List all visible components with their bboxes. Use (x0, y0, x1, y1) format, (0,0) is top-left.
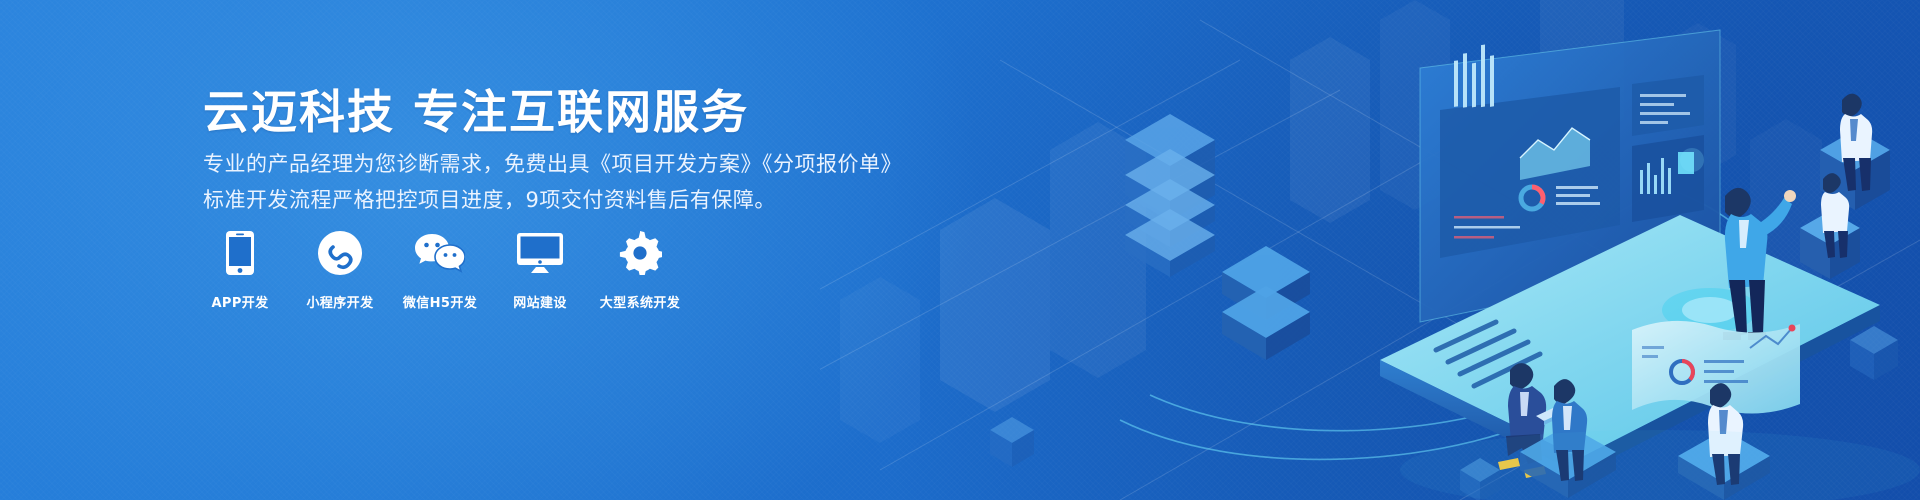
hero-banner: 云迈科技 专注互联网服务 专业的产品经理为您诊断需求，免费出具《项目开发方案》《… (0, 0, 1920, 500)
service-item-website[interactable]: 网站建设 (503, 230, 577, 311)
floating-cubes (1125, 114, 1215, 277)
service-list: APP开发 小程序开发 (203, 230, 677, 311)
service-label: 小程序开发 (306, 292, 373, 311)
illustration-artwork (820, 0, 1920, 500)
subtitle-line-1: 专业的产品经理为您诊断需求，免费出具《项目开发方案》《分项报价单》 (203, 146, 902, 182)
service-label: 大型系统开发 (600, 292, 680, 311)
subtitle-block: 专业的产品经理为您诊断需求，免费出具《项目开发方案》《分项报价单》 标准开发流程… (203, 146, 902, 218)
mobile-phone-icon (226, 230, 254, 276)
mini-program-icon (318, 230, 362, 276)
service-item-app[interactable]: APP开发 (203, 230, 277, 311)
wechat-icon (415, 230, 465, 276)
gear-icon (618, 230, 662, 276)
service-item-wechat-h5[interactable]: 微信H5开发 (403, 230, 477, 311)
service-item-miniprogram[interactable]: 小程序开发 (303, 230, 377, 311)
subtitle-line-2: 标准开发流程严格把控项目进度，9项交付资料售后有保障。 (203, 182, 902, 218)
monitor-icon (517, 230, 563, 276)
service-label: 微信H5开发 (403, 292, 477, 311)
server-stack (1222, 246, 1310, 360)
service-item-large-system[interactable]: 大型系统开发 (603, 230, 677, 311)
hero-content: 云迈科技 专注互联网服务 专业的产品经理为您诊断需求，免费出具《项目开发方案》《… (203, 0, 923, 500)
page-title: 云迈科技 专注互联网服务 (203, 76, 749, 142)
service-label: APP开发 (211, 292, 268, 311)
service-label: 网站建设 (513, 292, 567, 311)
